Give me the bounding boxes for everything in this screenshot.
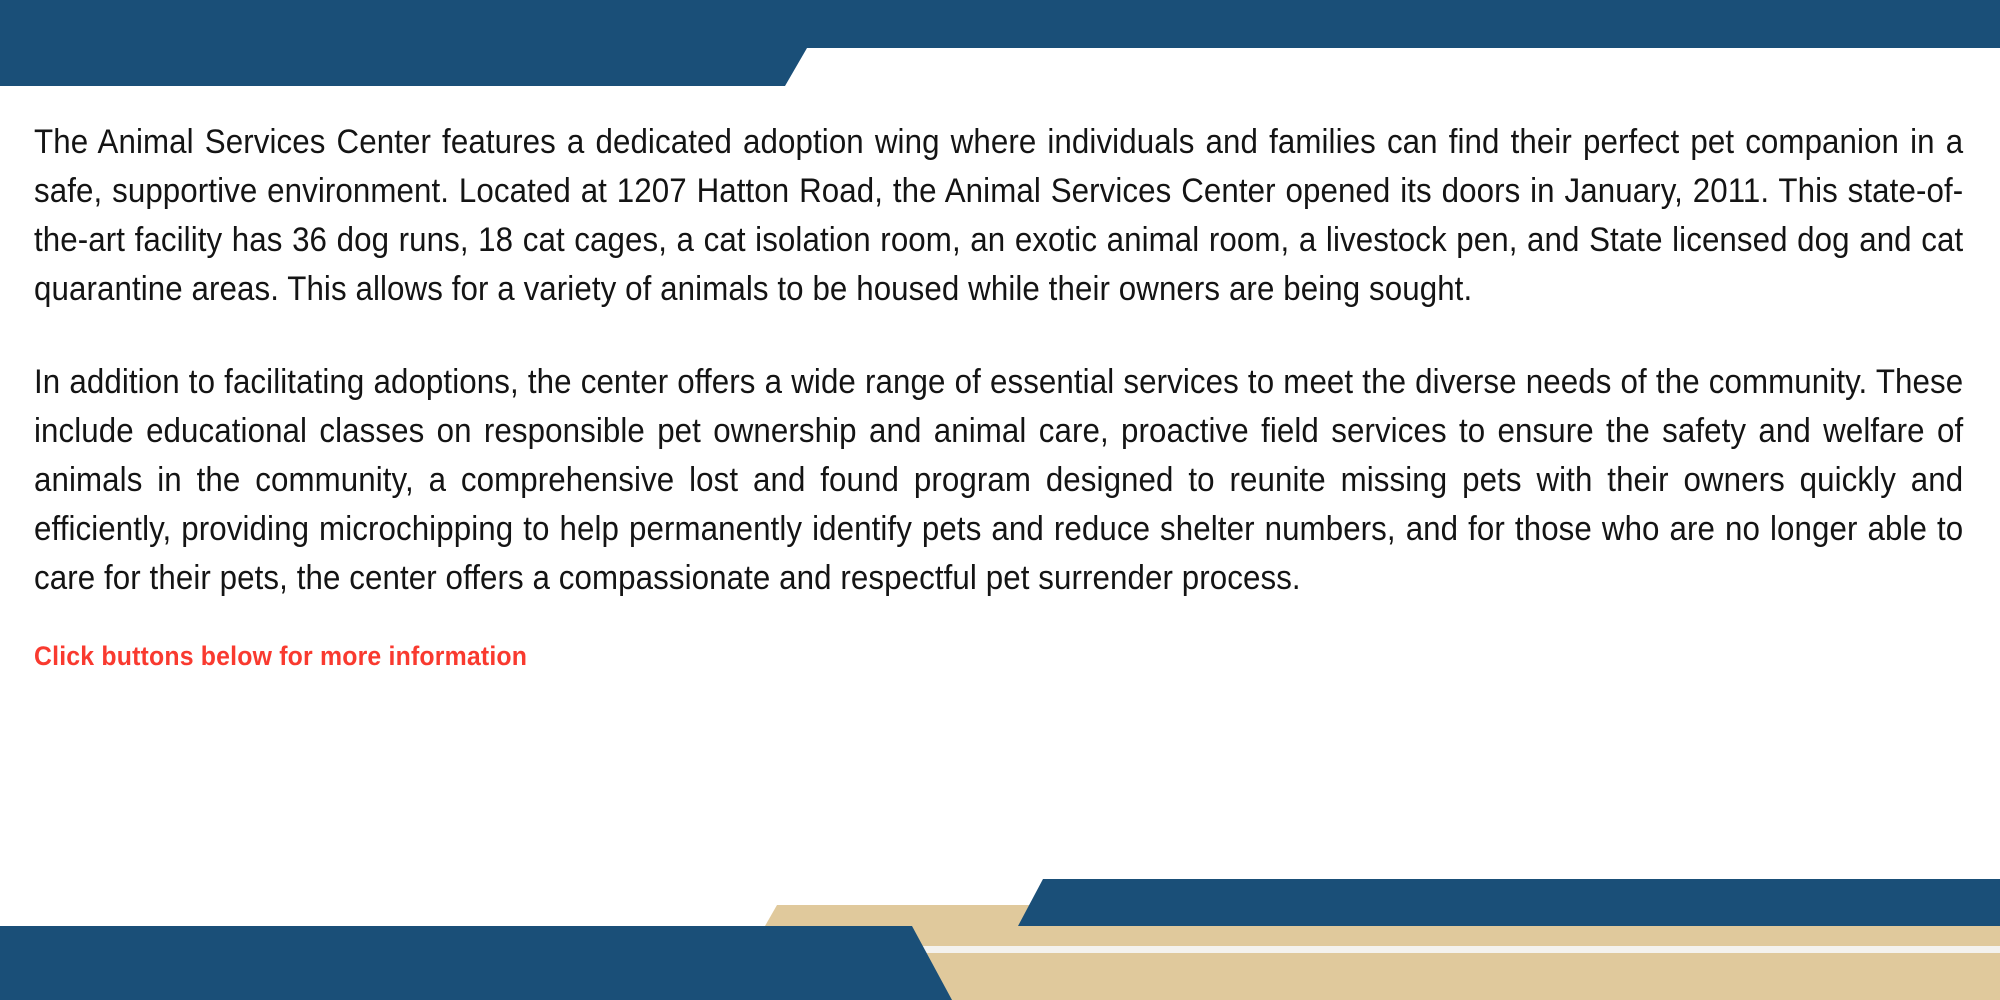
cta-note: Click buttons below for more information (34, 639, 1810, 673)
content-body: The Animal Services Center features a de… (34, 118, 1964, 673)
bottom-decorative-art (0, 850, 2000, 1000)
info-panel-page: The Animal Services Center features a de… (0, 0, 2000, 1000)
top-decorative-banner (0, 0, 2000, 90)
paragraph-services-offered: In addition to facilitating adoptions, t… (34, 358, 1963, 603)
paragraph-facility-overview: The Animal Services Center features a de… (34, 118, 1963, 314)
